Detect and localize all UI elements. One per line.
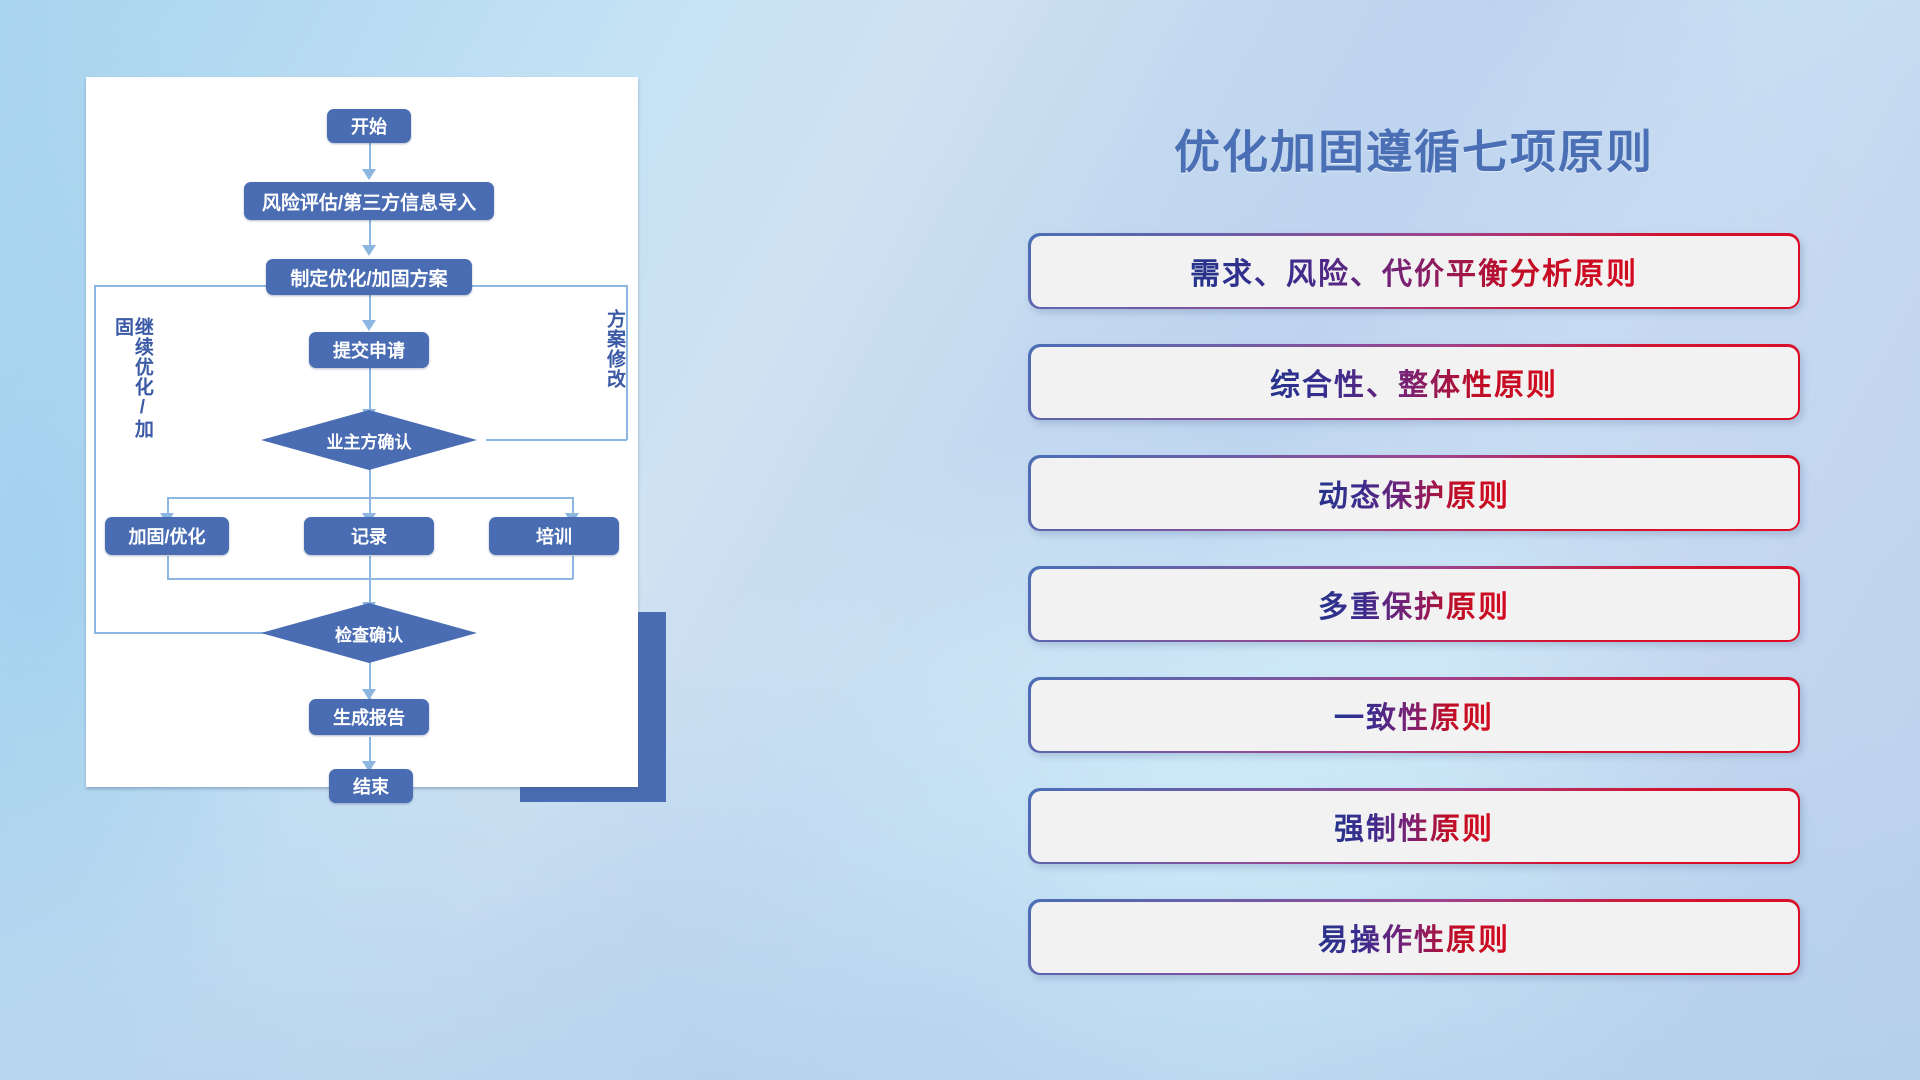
principle-item[interactable]: 强制性原则: [1028, 788, 1800, 864]
principle-item-inner: 强制性原则: [1031, 791, 1798, 862]
principle-label: 需求、风险、代价平衡分析原则: [1190, 249, 1638, 293]
principle-item[interactable]: 需求、风险、代价平衡分析原则: [1028, 233, 1800, 309]
principle-item-inner: 综合性、整体性原则: [1031, 347, 1798, 418]
principles-list: 需求、风险、代价平衡分析原则 综合性、整体性原则 动态保护原则 多重保护原则 一…: [1028, 233, 1800, 1010]
flow-node-risk-assessment[interactable]: 风险评估/第三方信息导入: [244, 182, 494, 220]
right-panel-title: 优化加固遵循七项原则: [1028, 116, 1800, 182]
flowchart-card: 开始 风险评估/第三方信息导入 制定优化/加固方案 提交申请 业主方确认 加固/…: [86, 77, 638, 787]
principle-item-inner: 一致性原则: [1031, 680, 1798, 751]
flow-node-record[interactable]: 记录: [304, 517, 434, 555]
flow-node-make-plan[interactable]: 制定优化/加固方案: [266, 259, 472, 295]
flow-node-start[interactable]: 开始: [327, 109, 411, 143]
edge-label-plan-revision: 方案修改: [604, 309, 624, 409]
principle-item[interactable]: 易操作性原则: [1028, 899, 1800, 975]
principle-label: 动态保护原则: [1318, 471, 1510, 515]
edge-label-continue-optimize: 继续优化/加固: [112, 317, 152, 447]
flow-node-end[interactable]: 结束: [329, 769, 413, 803]
principle-item[interactable]: 一致性原则: [1028, 677, 1800, 753]
principle-item[interactable]: 综合性、整体性原则: [1028, 344, 1800, 420]
principle-item-inner: 多重保护原则: [1031, 569, 1798, 640]
principle-item[interactable]: 多重保护原则: [1028, 566, 1800, 642]
flow-node-training[interactable]: 培训: [489, 517, 619, 555]
flow-node-generate-report[interactable]: 生成报告: [309, 699, 429, 735]
principle-label: 多重保护原则: [1318, 582, 1510, 626]
flow-node-reinforce[interactable]: 加固/优化: [105, 517, 229, 555]
principle-label: 强制性原则: [1334, 804, 1494, 848]
principle-item-inner: 动态保护原则: [1031, 458, 1798, 529]
principle-item-inner: 易操作性原则: [1031, 902, 1798, 973]
principle-label: 易操作性原则: [1318, 915, 1510, 959]
flow-node-submit-application[interactable]: 提交申请: [309, 332, 429, 368]
principle-label: 一致性原则: [1334, 693, 1494, 737]
principle-item[interactable]: 动态保护原则: [1028, 455, 1800, 531]
principle-label: 综合性、整体性原则: [1270, 360, 1558, 404]
principle-item-inner: 需求、风险、代价平衡分析原则: [1031, 236, 1798, 307]
